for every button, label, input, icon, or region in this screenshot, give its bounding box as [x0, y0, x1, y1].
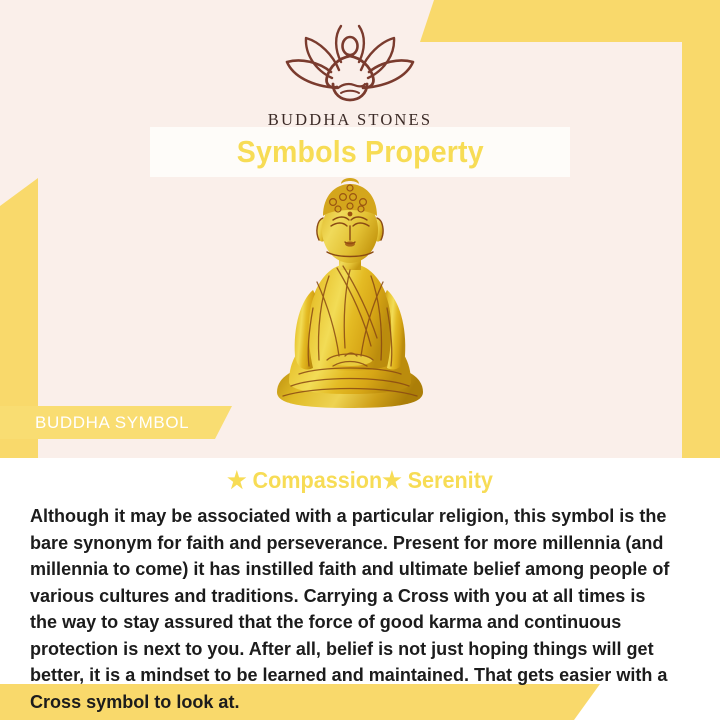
brand-logo-block: BUDDHA STONES	[0, 22, 700, 130]
title-banner: Symbols Property	[150, 127, 570, 177]
content-panel: ★ Compassion★ Serenity Although it may b…	[0, 458, 720, 684]
page-title: Symbols Property	[236, 134, 483, 170]
poster-canvas: BUDDHA STONES Symbols Property	[0, 0, 720, 720]
lotus-meditation-icon	[0, 22, 700, 106]
attributes-subtitle: ★ Compassion★ Serenity	[50, 467, 670, 494]
body-paragraph: Although it may be associated with a par…	[30, 503, 670, 715]
badge-label: BUDDHA SYMBOL	[35, 413, 189, 433]
buddha-symbol-badge: BUDDHA SYMBOL	[0, 406, 232, 439]
buddha-illustration	[0, 176, 700, 416]
